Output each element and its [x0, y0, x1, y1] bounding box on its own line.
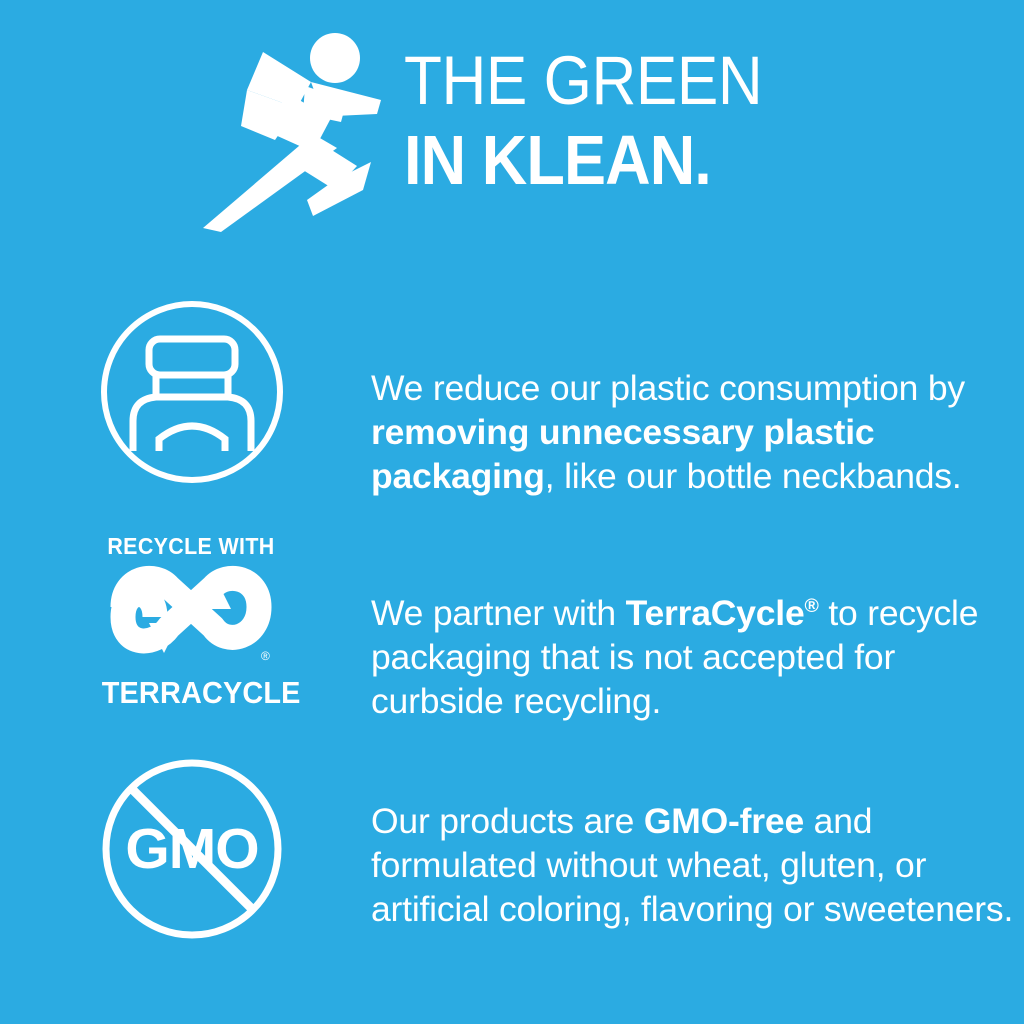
brand-name: TerraCycle [626, 593, 805, 633]
feature-text-gmo: Our products are GMO-free and formulated… [371, 786, 1024, 931]
title-line-2: IN KLEAN. [404, 122, 944, 198]
text-segment: Our products are [371, 801, 644, 841]
text-cell-gmo: Our products are GMO-free and formulated… [371, 750, 1024, 966]
icon-cell-gmo: GMO [0, 750, 371, 955]
text-segment: We reduce our plastic consumption by [371, 368, 965, 408]
feature-row-terracycle: RECYCLE WITH ® TERRACYCLE We partner wit… [0, 530, 1024, 720]
feature-text-plastic: We reduce our plastic consumption by rem… [371, 332, 1024, 498]
title-line-1: THE GREEN [404, 44, 944, 118]
feature-row-gmo: GMO Our products are GMO-free and formul… [0, 750, 1024, 955]
header-banner: THE GREEN IN KLEAN. [0, 0, 1024, 270]
feature-text-terracycle: We partner with TerraCycle® to recycle p… [371, 566, 1024, 723]
gmo-label: GMO [101, 758, 283, 940]
text-segment: We partner with [371, 593, 626, 633]
terracycle-logo-icon: RECYCLE WITH ® TERRACYCLE [95, 533, 287, 715]
feature-row-plastic: We reduce our plastic consumption by rem… [0, 296, 1024, 496]
icon-cell-terracycle: RECYCLE WITH ® TERRACYCLE [0, 530, 371, 720]
terracycle-bottom-text: TERRACYCLE [102, 675, 281, 711]
text-cell-terracycle: We partner with TerraCycle® to recycle p… [371, 530, 1024, 758]
text-segment-bold: TerraCycle® [626, 593, 819, 633]
bottle-neckband-icon [99, 299, 285, 485]
icon-cell-plastic [0, 296, 371, 496]
running-figure-icon [185, 30, 395, 235]
page-title: THE GREEN IN KLEAN. [404, 44, 1004, 198]
text-segment-bold: GMO-free [644, 801, 804, 841]
registered-mark: ® [805, 595, 819, 617]
text-cell-plastic: We reduce our plastic consumption by rem… [371, 296, 1024, 533]
text-segment: , like our bottle neckbands. [545, 456, 962, 496]
infinity-recycle-icon [93, 565, 289, 669]
registered-mark: ® [261, 649, 270, 663]
terracycle-top-text: RECYCLE WITH [102, 533, 281, 560]
